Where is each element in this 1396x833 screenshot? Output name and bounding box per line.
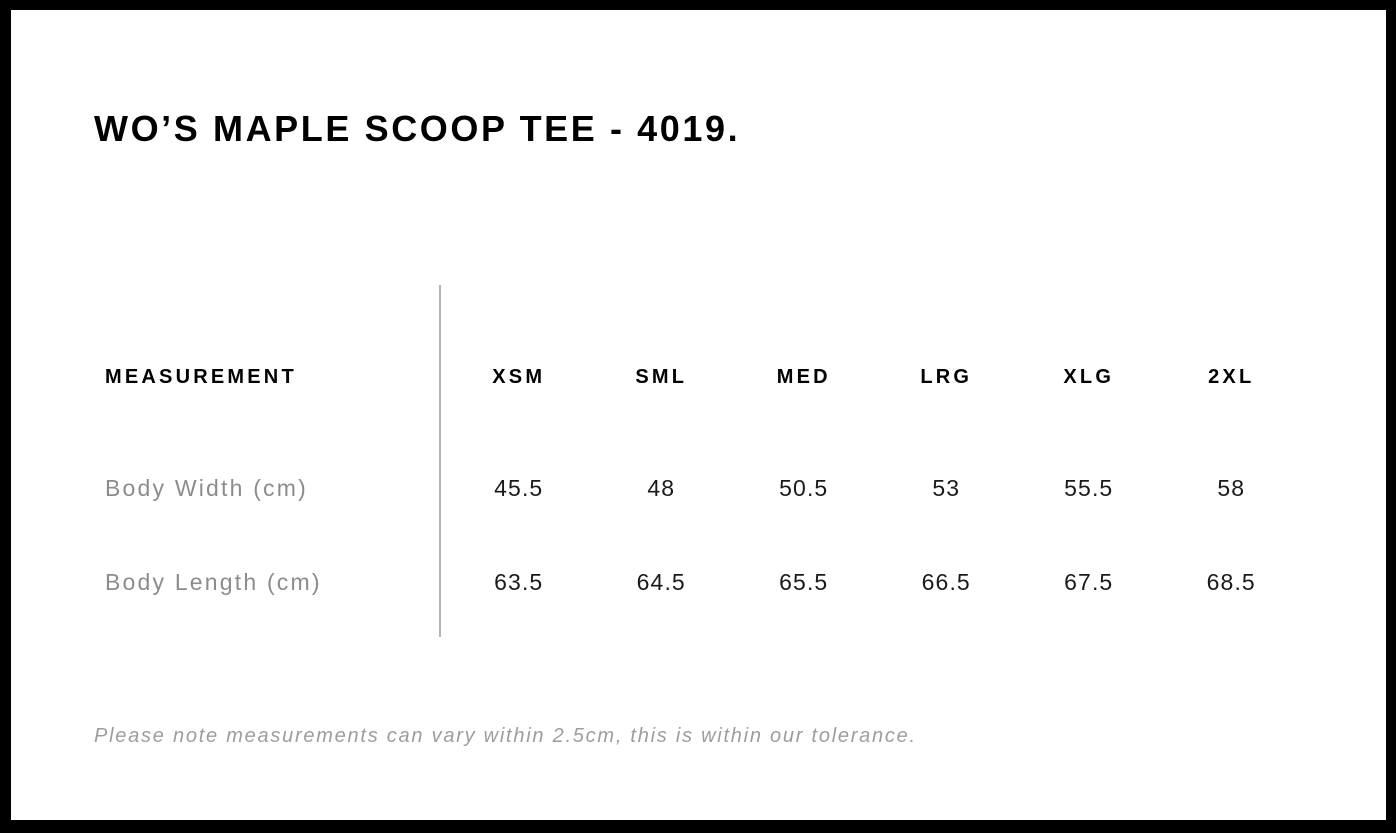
column-header-measurement: MEASUREMENT [94, 351, 449, 403]
header-spacer-row [94, 403, 1304, 441]
column-header-sml: SML [592, 351, 735, 403]
cell-body-width-sml: 48 [592, 441, 735, 535]
cell-body-length-med: 65.5 [734, 535, 877, 629]
size-chart-page: WO’S MAPLE SCOOP TEE - 4019. MEASUREMENT… [0, 0, 1396, 833]
cell-body-width-xsm: 45.5 [449, 441, 592, 535]
frame-border-top [0, 0, 1396, 10]
content-area: WO’S MAPLE SCOOP TEE - 4019. MEASUREMENT… [11, 11, 1386, 820]
row-label-body-length: Body Length (cm) [94, 535, 449, 629]
cell-body-width-lrg: 53 [877, 441, 1020, 535]
column-header-med: MED [734, 351, 877, 403]
table-row: Body Length (cm) 63.5 64.5 65.5 66.5 67.… [94, 535, 1304, 629]
spacer-cell [1019, 403, 1162, 441]
row-label-body-width: Body Width (cm) [94, 441, 449, 535]
size-chart-table: MEASUREMENT XSM SML MED LRG XLG 2XL [94, 351, 1304, 629]
spacer-cell [94, 403, 449, 441]
spacer-cell [592, 403, 735, 441]
table-header-row: MEASUREMENT XSM SML MED LRG XLG 2XL [94, 351, 1304, 403]
table-row: Body Width (cm) 45.5 48 50.5 53 55.5 58 [94, 441, 1304, 535]
frame-border-left [0, 0, 11, 833]
cell-body-length-lrg: 66.5 [877, 535, 1020, 629]
column-header-xlg: XLG [1019, 351, 1162, 403]
page-title: WO’S MAPLE SCOOP TEE - 4019. [94, 108, 740, 150]
cell-body-length-xlg: 67.5 [1019, 535, 1162, 629]
cell-body-width-xlg: 55.5 [1019, 441, 1162, 535]
cell-body-length-2xl: 68.5 [1162, 535, 1305, 629]
cell-body-length-xsm: 63.5 [449, 535, 592, 629]
column-header-2xl: 2XL [1162, 351, 1305, 403]
cell-body-length-sml: 64.5 [592, 535, 735, 629]
tolerance-note: Please note measurements can vary within… [94, 725, 917, 748]
spacer-cell [734, 403, 877, 441]
spacer-cell [877, 403, 1020, 441]
column-header-xsm: XSM [449, 351, 592, 403]
cell-body-width-med: 50.5 [734, 441, 877, 535]
frame-border-bottom [0, 820, 1396, 833]
frame-border-right [1386, 0, 1396, 833]
cell-body-width-2xl: 58 [1162, 441, 1305, 535]
spacer-cell [1162, 403, 1305, 441]
column-header-lrg: LRG [877, 351, 1020, 403]
spacer-cell [449, 403, 592, 441]
